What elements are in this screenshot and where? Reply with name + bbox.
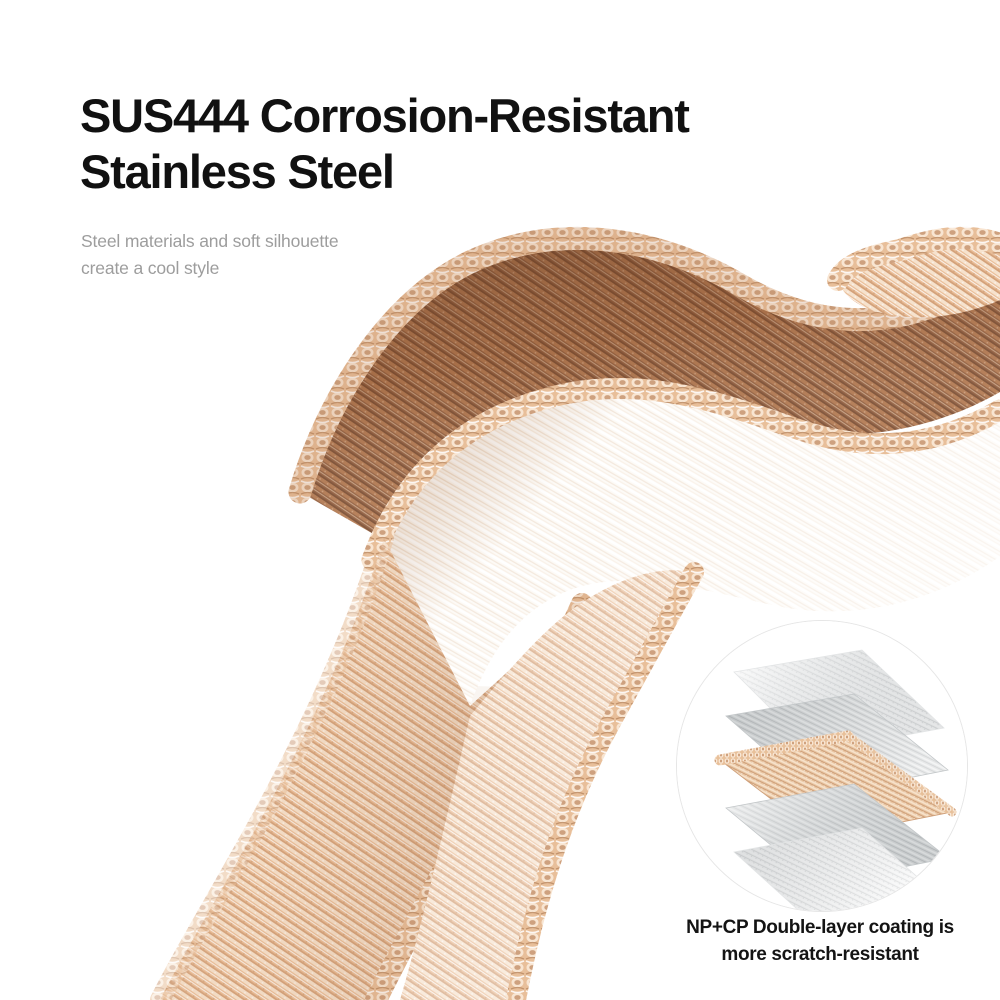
coating-diagram-callout bbox=[676, 620, 968, 912]
page-subtitle: Steel materials and soft silhouette crea… bbox=[81, 228, 501, 281]
callout-caption: NP+CP Double-layer coating is more scrat… bbox=[625, 915, 1000, 969]
product-feature-slide: SUS444 Corrosion-Resistant Stainless Ste… bbox=[0, 0, 1000, 1000]
layer-stack-diagram bbox=[676, 620, 968, 912]
page-title: SUS444 Corrosion-Resistant Stainless Ste… bbox=[80, 88, 900, 200]
